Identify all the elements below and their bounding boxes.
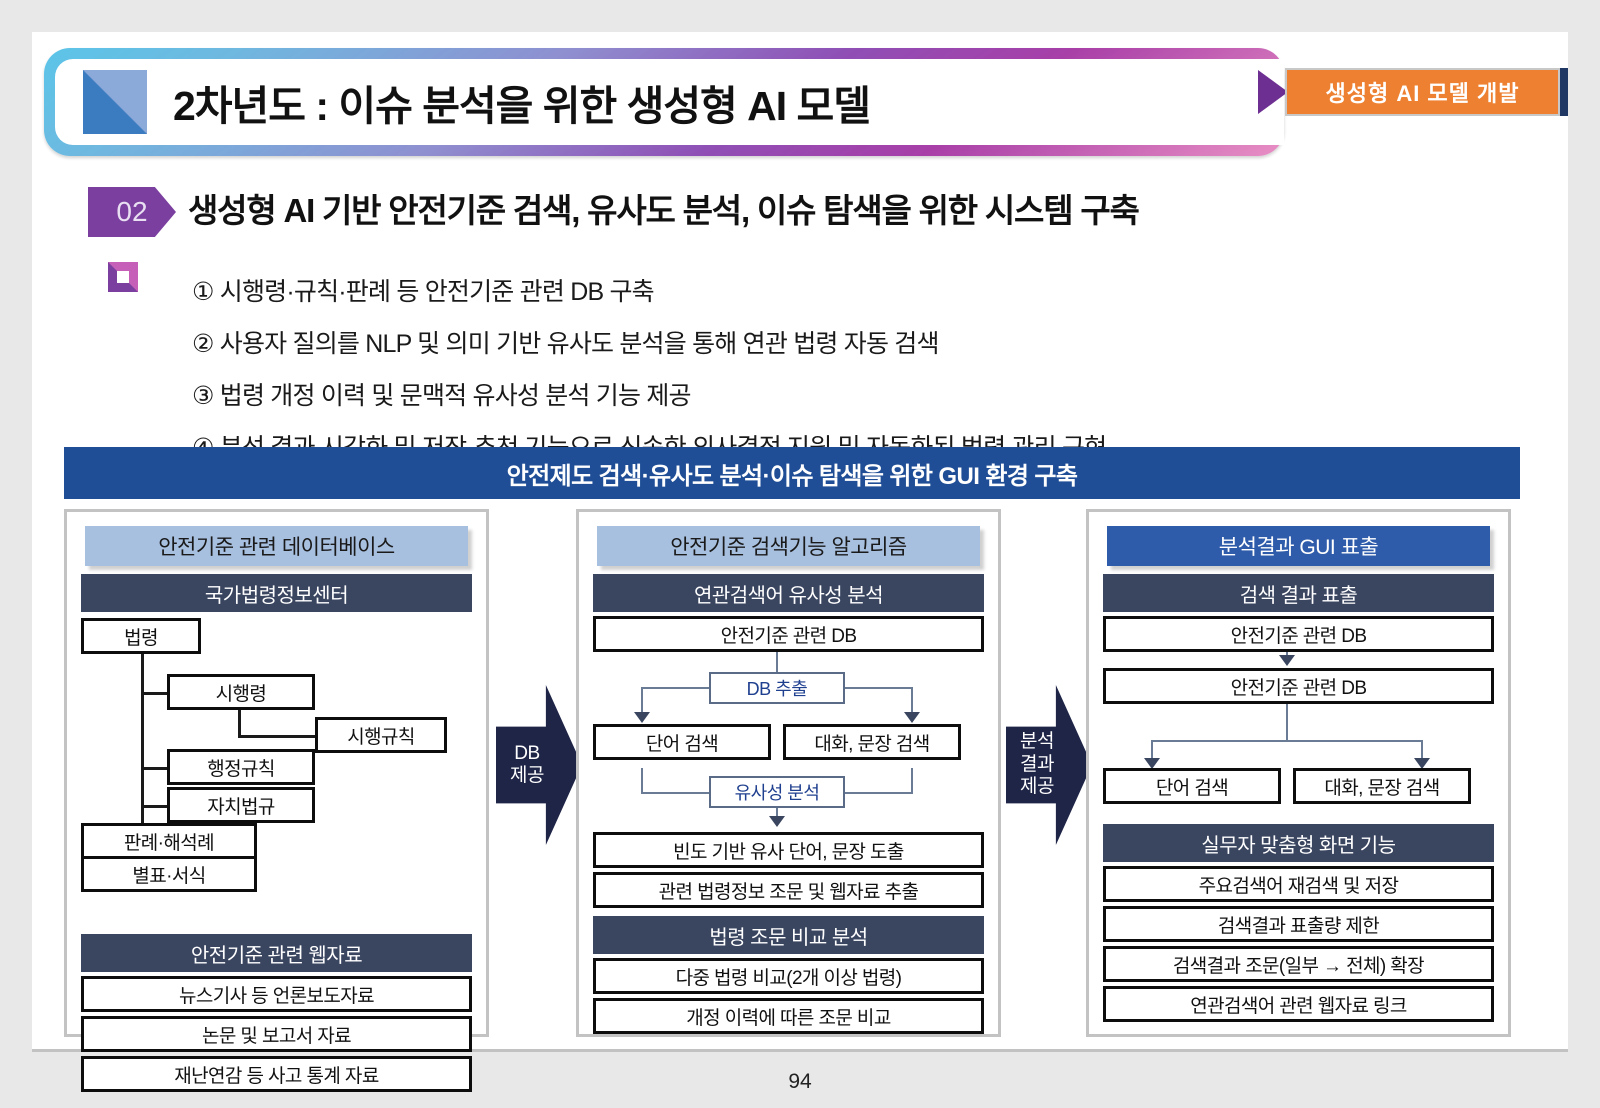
tree-line-branch-2 xyxy=(141,767,167,770)
law-tree: 법령 시행령 시행규칙 행정규칙 자치법규 판례·해석례 xyxy=(67,614,486,842)
box-word-search: 단어 검색 xyxy=(593,724,771,760)
subhead-search-result: 검색 결과 표출 xyxy=(1103,574,1494,612)
box-sentence-search: 대화, 문장 검색 xyxy=(1293,768,1471,804)
box-papers-reports: 논문 및 보고서 자료 xyxy=(81,1016,472,1052)
tree-line-sub-horz xyxy=(238,735,318,738)
slide-margin-right xyxy=(1568,0,1600,1108)
box-safety-db-2: 안전기준 관련 DB xyxy=(1103,668,1494,704)
flow-arrow-sim-icon xyxy=(769,816,785,827)
flow-line-db-down xyxy=(776,652,778,674)
arrow-label-line-1: 분석 xyxy=(1020,731,1054,753)
flow-line-sim-left xyxy=(641,792,709,794)
bullet-marker-icon xyxy=(108,262,138,292)
tree-node-root: 법령 xyxy=(81,618,201,654)
subhead-article-comparison: 법령 조문 비교 분석 xyxy=(593,916,984,954)
tree-line-sub-vert xyxy=(238,710,241,738)
box-result-limit: 검색결과 표출량 제한 xyxy=(1103,906,1494,942)
panel-title-search-algorithm: 안전기준 검색기능 알고리즘 xyxy=(597,526,980,566)
diagram-body: 안전기준 관련 데이터베이스 국가법령정보센터 법령 시행령 시행규칙 행정규칙… xyxy=(64,499,1520,1047)
flow-line-right-down xyxy=(911,687,913,715)
node-db-extract: DB 추출 xyxy=(709,672,845,704)
box-frequency-derivation: 빈도 기반 유사 단어, 문장 도출 xyxy=(593,832,984,868)
flow-db-to-db xyxy=(1103,652,1494,668)
list-item: ② 사용자 질의를 NLP 및 의미 기반 유사도 분석을 통해 연관 법령 자… xyxy=(192,324,1452,360)
panel-database: 안전기준 관련 데이터베이스 국가법령정보센터 법령 시행령 시행규칙 행정규칙… xyxy=(64,509,489,1037)
arrow-label-line-2: 제공 xyxy=(510,765,544,787)
list-item: ③ 법령 개정 이력 및 문맥적 유사성 분석 기능 제공 xyxy=(192,376,1452,412)
box-news-articles: 뉴스기사 등 언론보도자료 xyxy=(81,976,472,1012)
node-similarity-analysis: 유사성 분석 xyxy=(709,776,845,808)
diagram-header: 안전제도 검색·유사도 분석·이슈 탐색을 위한 GUI 환경 구축 xyxy=(64,447,1520,499)
arrow-label-line-2: 결과 xyxy=(1020,754,1054,776)
subhead-web-resources: 안전기준 관련 웹자료 xyxy=(81,934,472,972)
box-article-expand: 검색결과 조문(일부 → 전체) 확장 xyxy=(1103,946,1494,982)
flow-arrow-right-icon xyxy=(904,712,920,723)
tree-line-branch-1 xyxy=(141,692,167,695)
slide-header: 2차년도 : 이슈 분석을 위한 생성형 AI 모델 xyxy=(44,48,1284,156)
box-word-search: 단어 검색 xyxy=(1103,768,1281,804)
panel-search-algorithm: 안전기준 검색기능 알고리즘 연관검색어 유사성 분석 안전기준 관련 DB D… xyxy=(576,509,1001,1037)
badge-edge-accent xyxy=(1560,68,1568,116)
box-sentence-search: 대화, 문장 검색 xyxy=(783,724,961,760)
box-multi-law-compare: 다중 법령 비교(2개 이상 법령) xyxy=(593,958,984,994)
tree-line-trunk xyxy=(141,654,144,838)
box-safety-db: 안전기준 관련 DB xyxy=(593,616,984,652)
tree-node-enforcement-decree: 시행령 xyxy=(167,674,315,710)
arrow-db-provide: DB 제공 xyxy=(496,685,582,845)
box-keyword-research-save: 주요검색어 재검색 및 저장 xyxy=(1103,866,1494,902)
flow-line-split-down xyxy=(1286,704,1288,742)
flow-line-left-down xyxy=(641,687,643,715)
flow-line-extract-left xyxy=(641,687,709,689)
flow-arrow-db-icon xyxy=(1279,655,1295,666)
arrow-result-provide: 분석 결과 제공 xyxy=(1006,685,1092,845)
flow-line-extract-right xyxy=(845,687,913,689)
panel-title-gui-output: 분석결과 GUI 표출 xyxy=(1107,526,1490,566)
list-item: ① 시행령·규칙·판례 등 안전기준 관련 DB 구축 xyxy=(192,272,1452,308)
slide-logo-icon xyxy=(83,70,147,134)
flow-line-split-horz xyxy=(1151,740,1423,742)
box-law-web-extract: 관련 법령정보 조문 및 웹자료 추출 xyxy=(593,872,984,908)
panel-title-database: 안전기준 관련 데이터베이스 xyxy=(85,526,468,566)
slide-margin-left xyxy=(0,0,32,1108)
tree-node-local-ordinance: 자치법규 xyxy=(167,787,315,823)
status-badge: 생성형 AI 모델 개발 xyxy=(1285,68,1560,116)
page-title: 2차년도 : 이슈 분석을 위한 생성형 AI 모델 xyxy=(173,72,870,132)
flow-line-sim-right-down xyxy=(911,768,913,794)
flow-extract-similarity: DB 추출 단어 검색 대화, 문장 검색 xyxy=(593,652,984,768)
diagram-container: 안전제도 검색·유사도 분석·이슈 탐색을 위한 GUI 환경 구축 안전기준 … xyxy=(64,447,1520,1047)
section-number: 02 xyxy=(88,187,176,237)
slide-canvas: 2차년도 : 이슈 분석을 위한 생성형 AI 모델 생성형 AI 모델 개발 … xyxy=(0,0,1600,1108)
tree-node-precedent: 판례·해석례 xyxy=(81,823,257,859)
flow-line-sim-left-down xyxy=(641,768,643,794)
section-title: 생성형 AI 기반 안전기준 검색, 유사도 분석, 이슈 탐색을 위한 시스템… xyxy=(188,184,1139,232)
box-forms: 별표·서식 xyxy=(81,856,257,892)
arrow-label-line-3: 제공 xyxy=(1020,776,1054,798)
tree-node-enforcement-rule: 시행규칙 xyxy=(315,717,447,753)
flow-db-split: 단어 검색 대화, 문장 검색 xyxy=(1103,704,1494,802)
tree-line-branch-3 xyxy=(141,805,167,808)
flow-similarity: 유사성 분석 xyxy=(593,768,984,830)
page-number: 94 xyxy=(0,1070,1600,1094)
slide-margin-top xyxy=(0,0,1600,32)
subhead-law-center: 국가법령정보센터 xyxy=(81,574,472,612)
flow-arrow-left-icon xyxy=(634,712,650,723)
header-inner-panel: 2차년도 : 이슈 분석을 위한 생성형 AI 모델 xyxy=(55,59,1284,145)
flow-line-sim-right xyxy=(845,792,913,794)
subhead-related-keyword-similarity: 연관검색어 유사성 분석 xyxy=(593,574,984,612)
arrow-label-line-1: DB xyxy=(514,743,539,765)
tree-node-admin-rule: 행정규칙 xyxy=(167,749,315,785)
box-safety-db-1: 안전기준 관련 DB xyxy=(1103,616,1494,652)
subhead-practitioner-screen: 실무자 맞춤형 화면 기능 xyxy=(1103,824,1494,862)
panel-gui-output: 분석결과 GUI 표출 검색 결과 표출 안전기준 관련 DB 안전기준 관련 … xyxy=(1086,509,1511,1037)
box-web-link: 연관검색어 관련 웹자료 링크 xyxy=(1103,986,1494,1022)
box-revision-compare: 개정 이력에 따른 조문 비교 xyxy=(593,998,984,1034)
